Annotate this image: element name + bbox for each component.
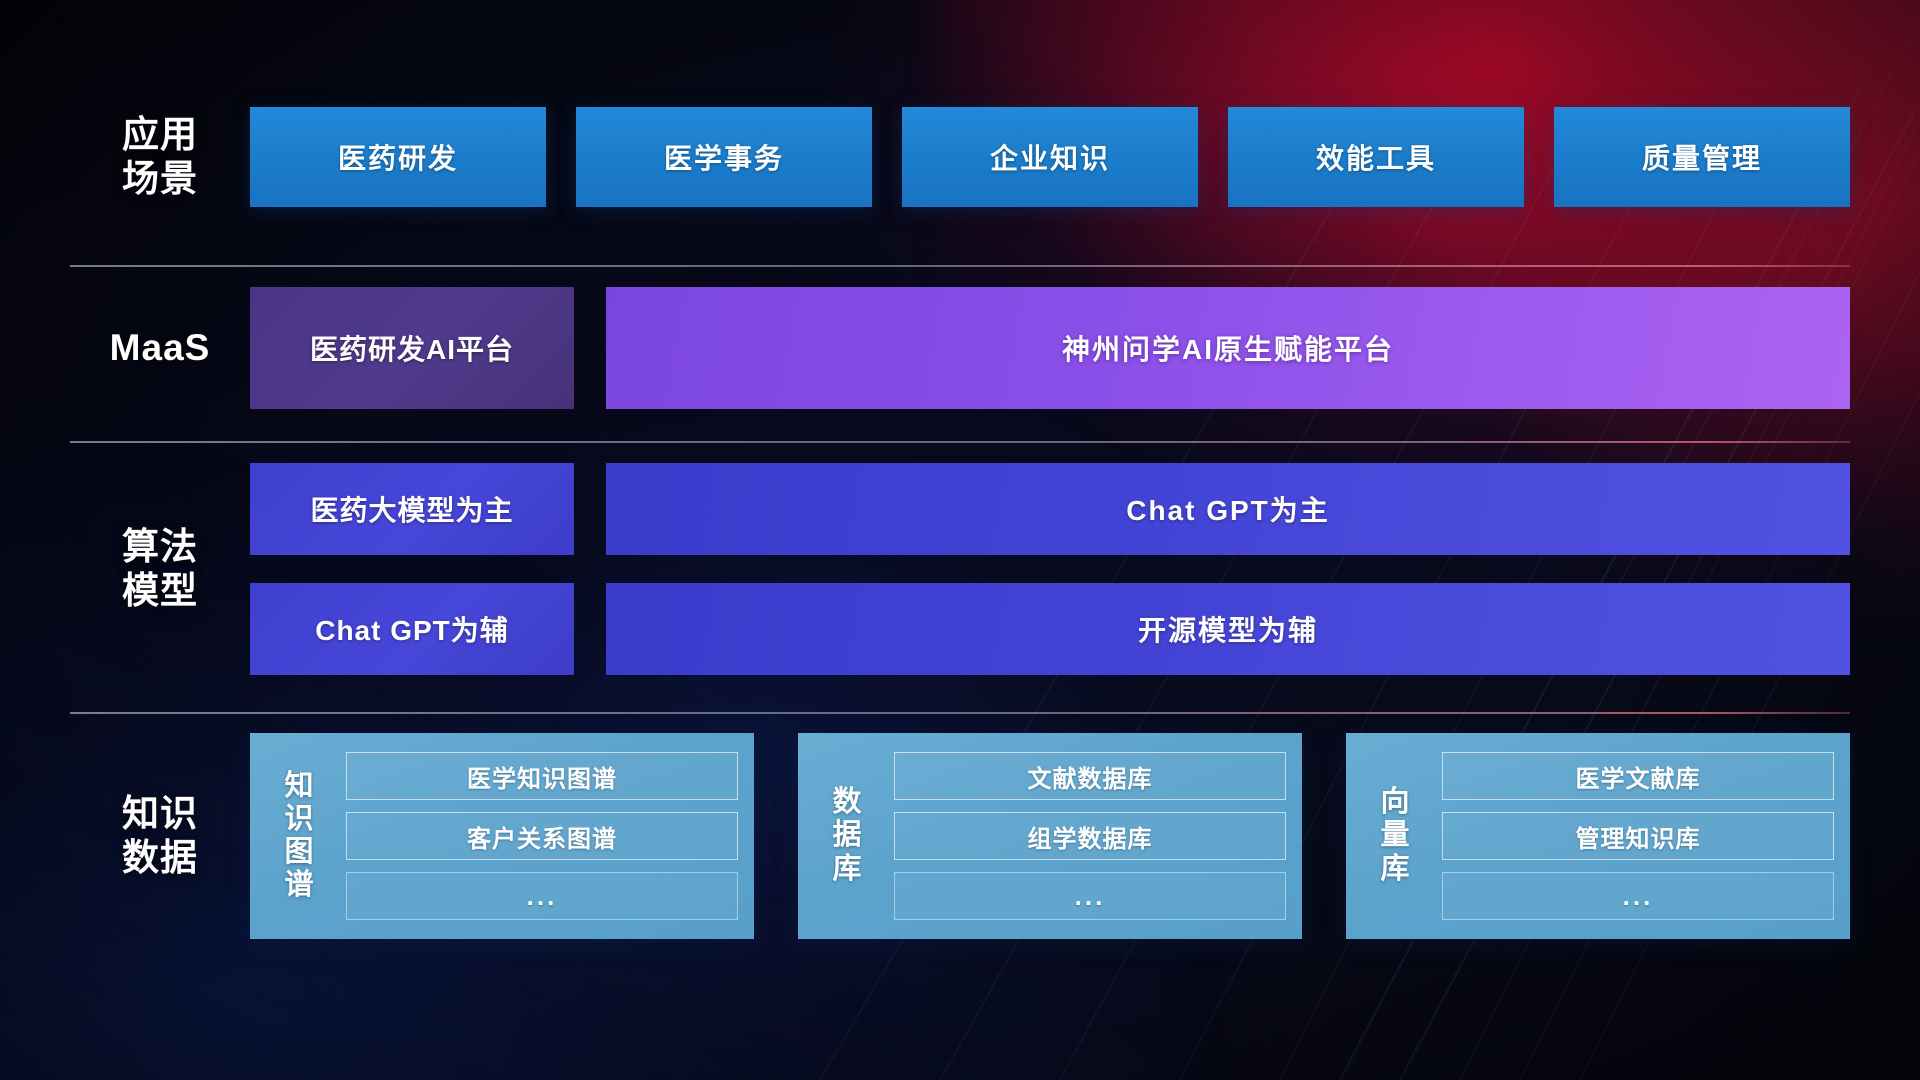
row-application-scenarios: 应用 场景 医药研发 医学事务 企业知识 效能工具 质量管理 [70,107,1850,207]
knowledge-item-medical-literature-store[interactable]: 医学文献库 [1442,752,1834,800]
slide-canvas: 应用 场景 医药研发 医学事务 企业知识 效能工具 质量管理 MaaS 医药研发… [0,0,1920,1080]
knowledge-item-more-vector-store[interactable]: ... [1442,872,1834,920]
application-scenario-boxes: 医药研发 医学事务 企业知识 效能工具 质量管理 [250,107,1850,207]
app-box-enterprise-knowledge[interactable]: 企业知识 [902,107,1198,207]
app-box-medical-affairs[interactable]: 医学事务 [576,107,872,207]
knowledge-item-more-database[interactable]: ... [894,872,1286,920]
knowledge-panel-vector-store[interactable]: 向量库 医学文献库 管理知识库 ... [1346,733,1850,939]
knowledge-item-literature-database[interactable]: 文献数据库 [894,752,1286,800]
knowledge-items-database: 文献数据库 组学数据库 ... [880,747,1286,925]
knowledge-item-omics-database[interactable]: 组学数据库 [894,812,1286,860]
knowledge-panel-title-database: 数据库 [814,747,880,925]
algorithm-line-secondary: Chat GPT为辅 开源模型为辅 [250,583,1850,675]
row-knowledge-data: 知识 数据 知识图谱 医学知识图谱 客户关系图谱 ... 数据库 文献数据库 [70,733,1850,939]
knowledge-items-knowledge-graph: 医学知识图谱 客户关系图谱 ... [332,747,738,925]
divider-2 [70,441,1850,443]
row-label-knowledge-data: 知识 数据 [70,792,250,879]
knowledge-panel-title-vector-store: 向量库 [1362,747,1428,925]
maas-box-shenzhou-wenxue-platform[interactable]: 神州问学AI原生赋能平台 [606,287,1850,409]
architecture-diagram: 应用 场景 医药研发 医学事务 企业知识 效能工具 质量管理 MaaS 医药研发… [0,0,1920,1080]
divider-1 [70,265,1850,267]
row-label-maas: MaaS [70,326,250,370]
maas-box-medicine-ai-platform[interactable]: 医药研发AI平台 [250,287,574,409]
knowledge-item-medical-knowledge-graph[interactable]: 医学知识图谱 [346,752,738,800]
algorithm-model-boxes: 医药大模型为主 Chat GPT为主 Chat GPT为辅 开源模型为辅 [250,463,1850,675]
knowledge-panel-title-knowledge-graph: 知识图谱 [266,747,332,925]
algorithm-line-primary: 医药大模型为主 Chat GPT为主 [250,463,1850,555]
algo-box-medicine-large-model-primary[interactable]: 医药大模型为主 [250,463,574,555]
knowledge-items-vector-store: 医学文献库 管理知识库 ... [1428,747,1834,925]
knowledge-panel-knowledge-graph[interactable]: 知识图谱 医学知识图谱 客户关系图谱 ... [250,733,754,939]
maas-boxes: 医药研发AI平台 神州问学AI原生赋能平台 [250,287,1850,409]
app-box-quality-management[interactable]: 质量管理 [1554,107,1850,207]
algo-box-opensource-secondary[interactable]: 开源模型为辅 [606,583,1850,675]
knowledge-item-customer-relation-graph[interactable]: 客户关系图谱 [346,812,738,860]
row-label-algorithm-models: 算法 模型 [70,525,250,612]
knowledge-data-panels: 知识图谱 医学知识图谱 客户关系图谱 ... 数据库 文献数据库 组学数据库 .… [250,733,1850,939]
row-label-application-scenarios: 应用 场景 [70,113,250,200]
row-algorithm-models: 算法 模型 医药大模型为主 Chat GPT为主 Chat GPT为辅 开源模型… [70,463,1850,675]
algo-box-chatgpt-secondary[interactable]: Chat GPT为辅 [250,583,574,675]
app-box-efficiency-tools[interactable]: 效能工具 [1228,107,1524,207]
knowledge-panel-database[interactable]: 数据库 文献数据库 组学数据库 ... [798,733,1302,939]
knowledge-item-more-knowledge-graph[interactable]: ... [346,872,738,920]
app-box-medicine-rd[interactable]: 医药研发 [250,107,546,207]
algo-box-chatgpt-primary[interactable]: Chat GPT为主 [606,463,1850,555]
knowledge-item-management-knowledge-store[interactable]: 管理知识库 [1442,812,1834,860]
row-maas: MaaS 医药研发AI平台 神州问学AI原生赋能平台 [70,287,1850,409]
divider-3 [70,712,1850,714]
